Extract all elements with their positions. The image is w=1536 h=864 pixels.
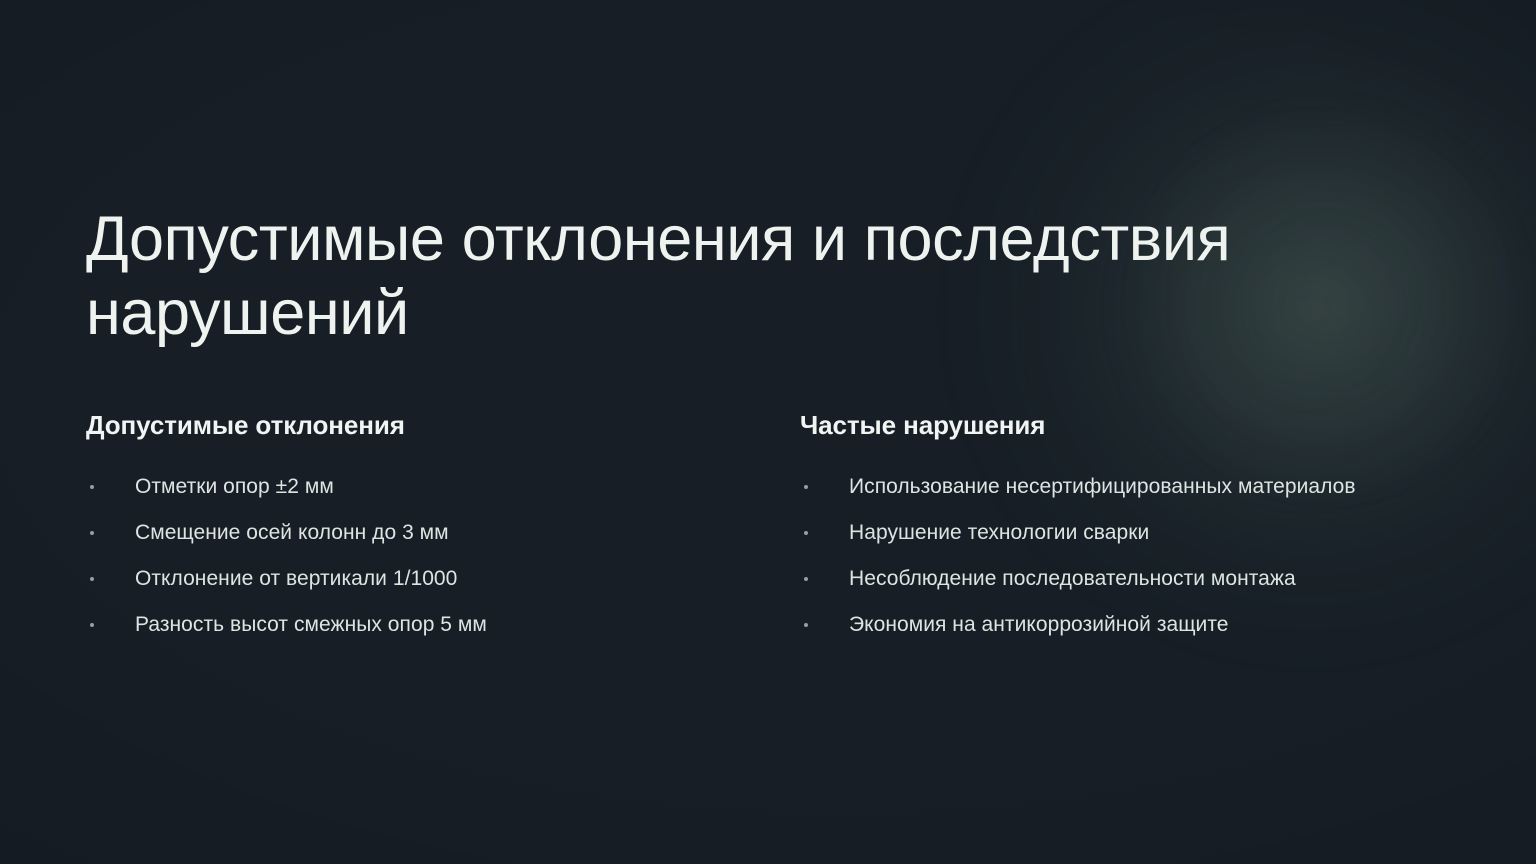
column-common-violations: Частые нарушения Использование несертифи… bbox=[800, 410, 1486, 637]
list-item: Отклонение от вертикали 1/1000 bbox=[86, 567, 800, 591]
presentation-slide: Допустимые отклонения и последствия нару… bbox=[0, 0, 1536, 864]
list-item: Экономия на антикоррозийной защите bbox=[800, 613, 1486, 637]
list-item: Несоблюдение последовательности монтажа bbox=[800, 567, 1486, 591]
list-item: Использование несертифицированных матери… bbox=[800, 475, 1486, 499]
list-item: Отметки опор ±2 мм bbox=[86, 475, 800, 499]
page-title: Допустимые отклонения и последствия нару… bbox=[86, 202, 1376, 350]
list-item: Разность высот смежных опор 5 мм bbox=[86, 613, 800, 637]
columns-container: Допустимые отклонения Отметки опор ±2 мм… bbox=[86, 410, 1486, 637]
column-allowable-deviations: Допустимые отклонения Отметки опор ±2 мм… bbox=[86, 410, 800, 637]
column-heading-common-violations: Частые нарушения bbox=[800, 410, 1486, 441]
slide-content: Допустимые отклонения и последствия нару… bbox=[0, 0, 1536, 864]
list-item: Смещение осей колонн до 3 мм bbox=[86, 521, 800, 545]
column-heading-allowable-deviations: Допустимые отклонения bbox=[86, 410, 800, 441]
bullet-list-allowable-deviations: Отметки опор ±2 мм Смещение осей колонн … bbox=[86, 475, 800, 637]
bullet-list-common-violations: Использование несертифицированных матери… bbox=[800, 475, 1486, 637]
list-item: Нарушение технологии сварки bbox=[800, 521, 1486, 545]
